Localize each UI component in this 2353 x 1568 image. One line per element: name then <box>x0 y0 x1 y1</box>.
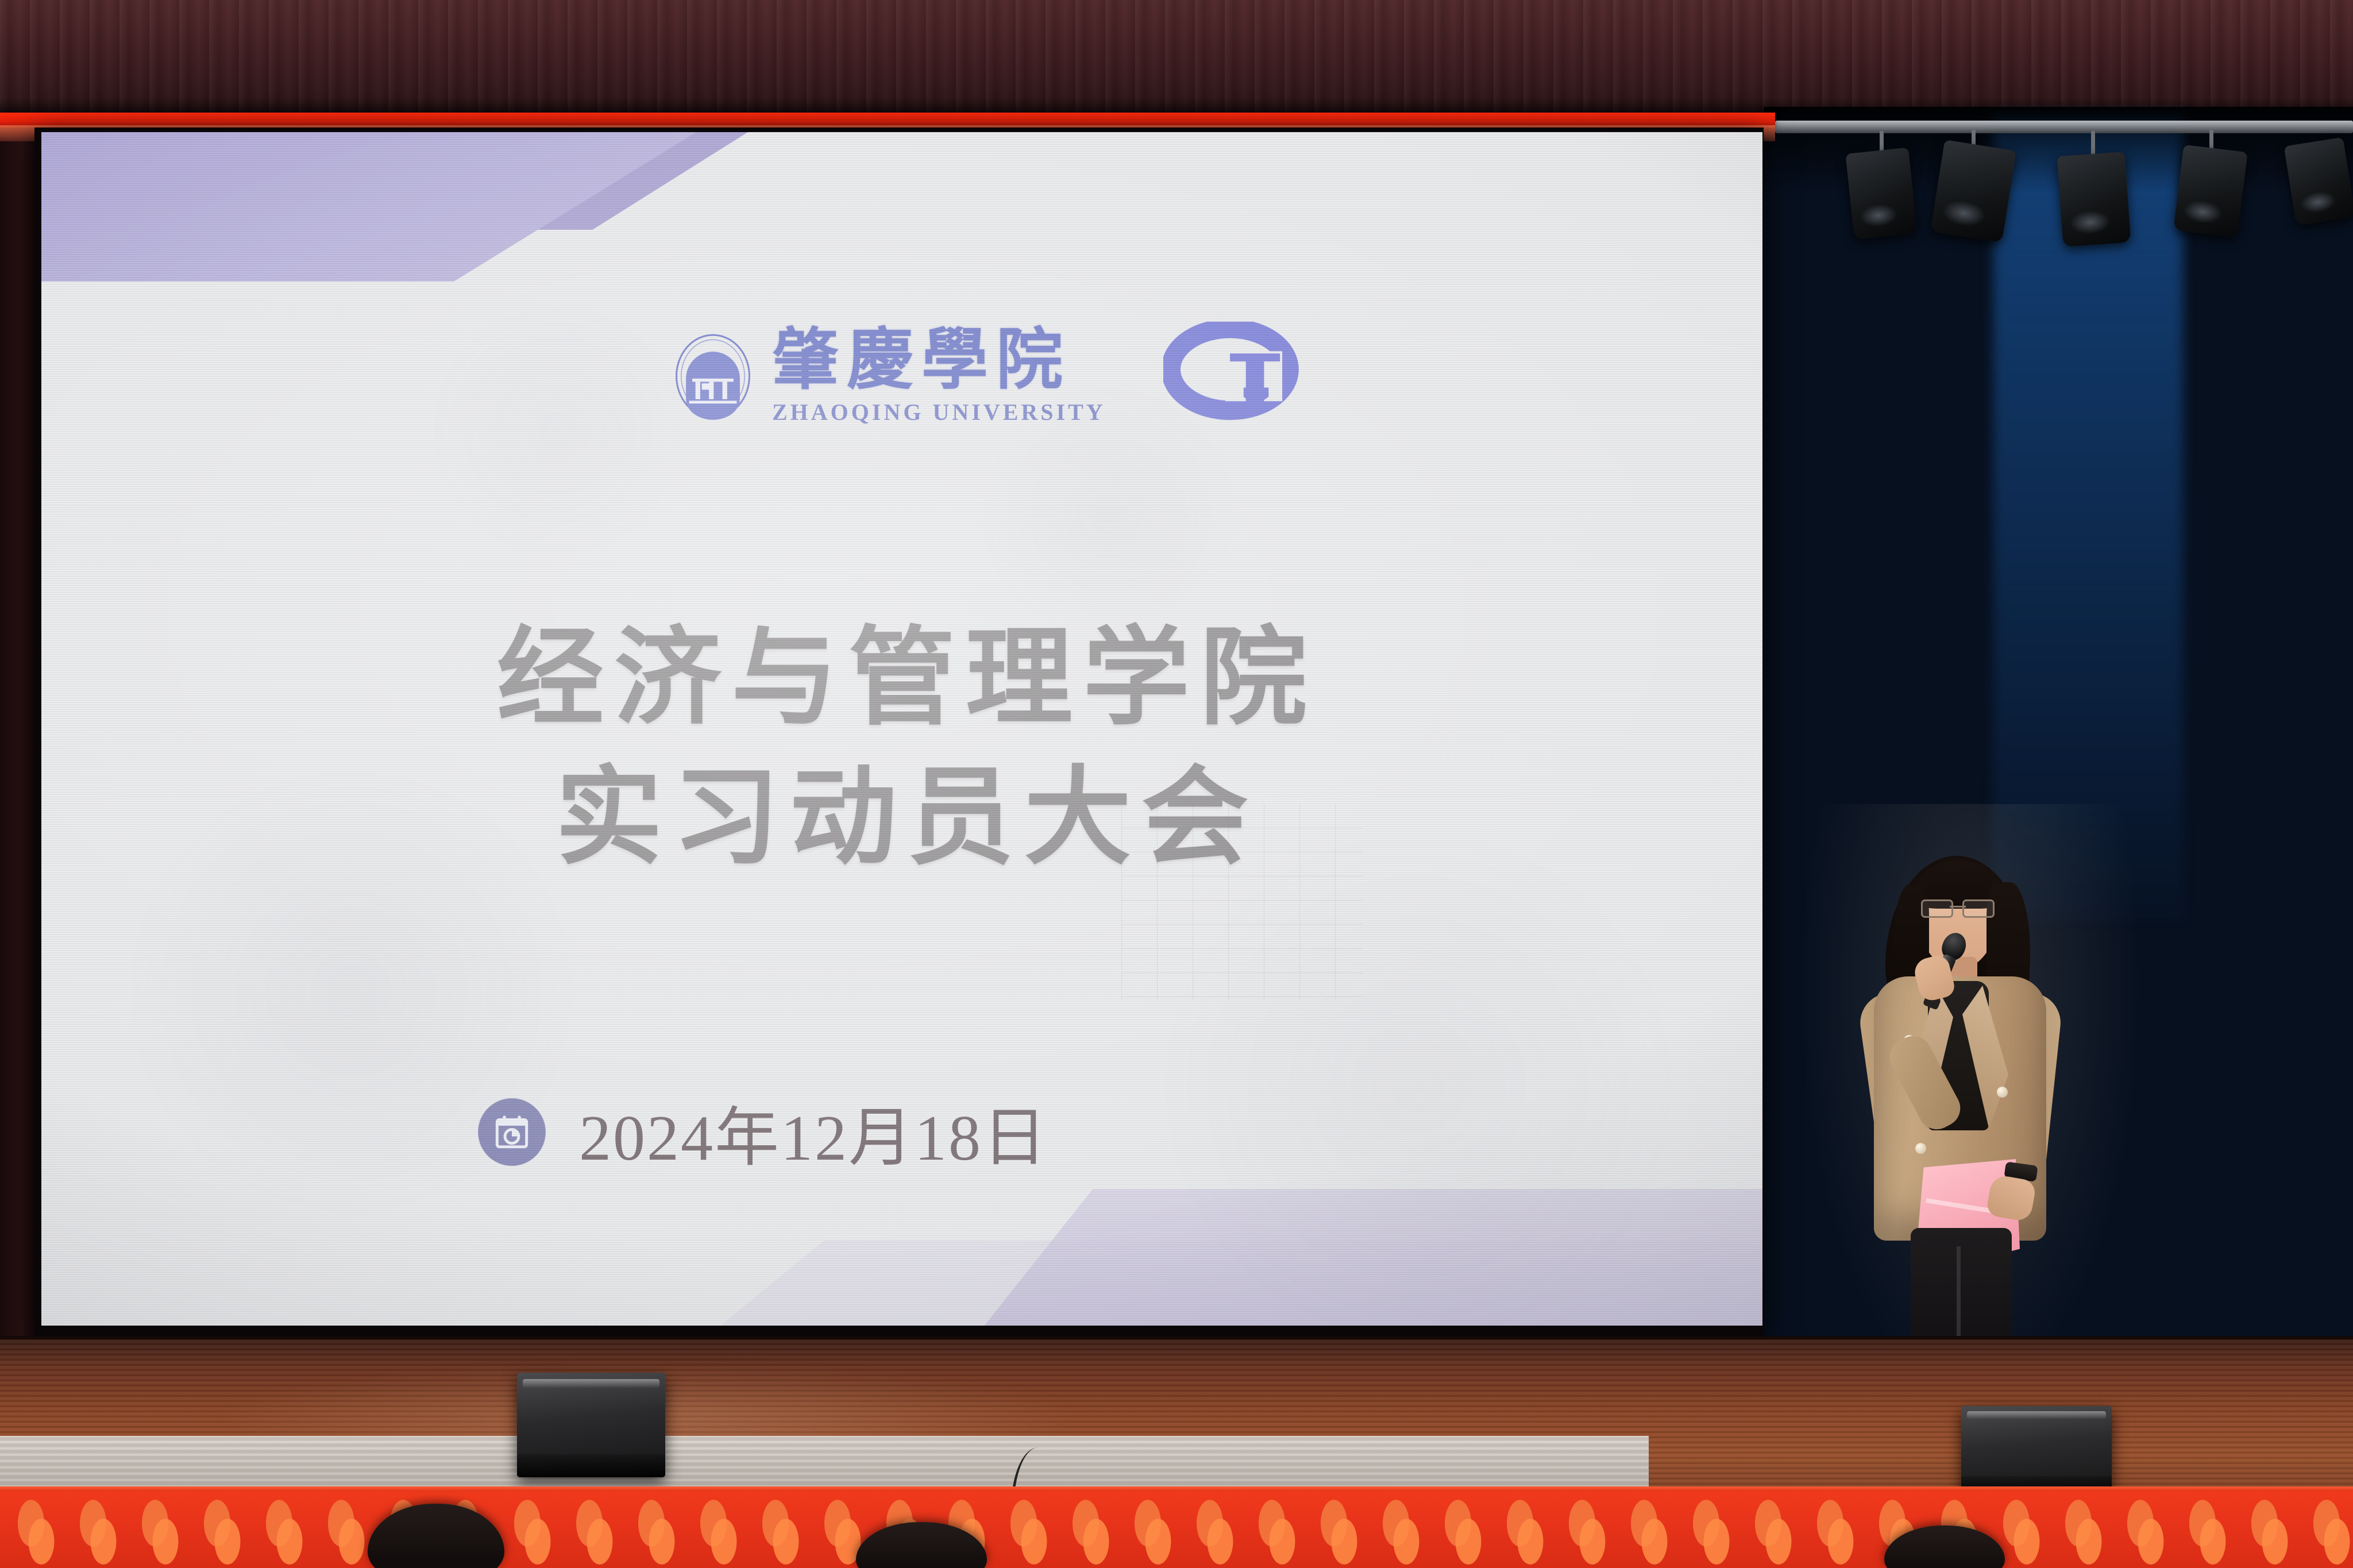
stage-scene: 肇慶學院 ZHAOQING UNIVERSITY 经济与管理学院 实习动员大会 <box>0 0 2353 1568</box>
top-red-curtain <box>0 0 2353 113</box>
floor-monitor-left <box>517 1373 665 1477</box>
stage-light-3 <box>2057 152 2131 247</box>
presentation-slide: 肇慶學院 ZHAOQING UNIVERSITY 经济与管理学院 实习动员大会 <box>41 132 1762 1326</box>
slide-title-line-2: 实习动员大会 <box>545 754 1259 880</box>
projection-screen: 肇慶學院 ZHAOQING UNIVERSITY 经济与管理学院 实习动员大会 <box>41 132 1762 1326</box>
banner-top-edge <box>0 1486 2353 1492</box>
stage-light-2 <box>1930 140 2016 243</box>
calendar-clock-icon <box>492 1112 532 1152</box>
slide-decoration-bottom-right <box>983 1189 1762 1326</box>
stage-light-5 <box>2284 137 2353 226</box>
left-wall-shadow <box>0 113 36 1376</box>
stage-light-truss <box>1775 121 2353 133</box>
slide-date-text: 2024年12月18日 <box>579 1086 1048 1179</box>
calendar-clock-badge <box>478 1098 546 1166</box>
slide-date-row: 2024年12月18日 <box>478 1086 1048 1179</box>
stage-light-1 <box>1845 148 1917 240</box>
university-wordmark: 肇慶學院 ZHAOQING UNIVERSITY <box>772 327 1106 426</box>
university-seal-icon <box>673 333 753 420</box>
floor-monitor-right <box>1961 1406 2112 1496</box>
university-name-en: ZHAOQING UNIVERSITY <box>772 399 1106 426</box>
presenter-button-5 <box>1997 1087 2008 1098</box>
university-name-cn: 肇慶學院 <box>772 327 1106 394</box>
slide-logo-row: 肇慶學院 ZHAOQING UNIVERSITY <box>673 322 1301 431</box>
slide-title-block: 经济与管理学院 实习动员大会 <box>41 615 1762 880</box>
presenter-glasses-icon <box>1921 899 1995 914</box>
g-monogram-icon <box>1163 322 1301 431</box>
slide-title-line-1: 经济与管理学院 <box>487 615 1317 740</box>
presenter-button-4 <box>1915 1143 1926 1154</box>
stage-light-4 <box>2173 145 2247 238</box>
